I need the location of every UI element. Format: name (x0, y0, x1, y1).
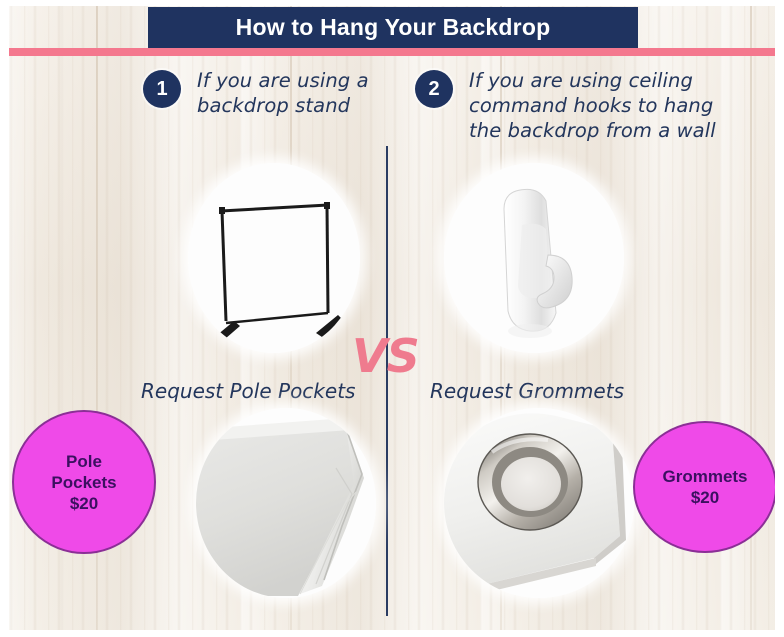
price-bubble-grommets: Grommets $20 (633, 421, 777, 553)
bubble-line: Pole (66, 451, 102, 472)
step-2-line: command hooks to hang (469, 93, 716, 118)
step-2-badge: 2 (415, 70, 453, 108)
bubble-price: $20 (70, 493, 98, 514)
bubble-line: Grommets (662, 466, 747, 487)
bubble-line: Pockets (51, 472, 116, 493)
grommet-eyelet-icon (444, 408, 634, 598)
pole-pocket-fabric-photo (196, 408, 376, 598)
step-2-line: the backdrop from a wall (469, 118, 716, 143)
page-title: How to Hang Your Backdrop (236, 14, 551, 41)
step-1: 1 If you are using a backdrop stand (143, 68, 378, 118)
title-banner: How to Hang Your Backdrop (148, 7, 638, 48)
caption-pole-pockets: Request Pole Pockets (141, 379, 355, 403)
caption-grommets: Request Grommets (430, 379, 624, 403)
backdrop-stand-icon (188, 163, 360, 353)
infographic-root: How to Hang Your Backdrop 1 If you are u… (0, 0, 784, 637)
step-2-line: If you are using ceiling (469, 68, 716, 93)
step-1-line: If you are using a (197, 68, 369, 93)
step-2-text: If you are using ceiling command hooks t… (469, 68, 716, 143)
command-hook-icon (444, 163, 624, 353)
step-2: 2 If you are using ceiling command hooks… (415, 68, 755, 143)
command-hook-photo (444, 163, 624, 353)
bubble-price: $20 (691, 487, 719, 508)
pink-divider-rule (0, 48, 784, 56)
price-bubble-pole-pockets: Pole Pockets $20 (12, 410, 156, 554)
folded-fabric-icon (196, 408, 376, 598)
step-1-badge: 1 (143, 70, 181, 108)
step-1-line: backdrop stand (197, 93, 369, 118)
backdrop-stand-photo (188, 163, 360, 353)
step-1-text: If you are using a backdrop stand (197, 68, 369, 118)
metal-grommet-photo (444, 408, 634, 598)
versus-label: VS (352, 333, 419, 379)
